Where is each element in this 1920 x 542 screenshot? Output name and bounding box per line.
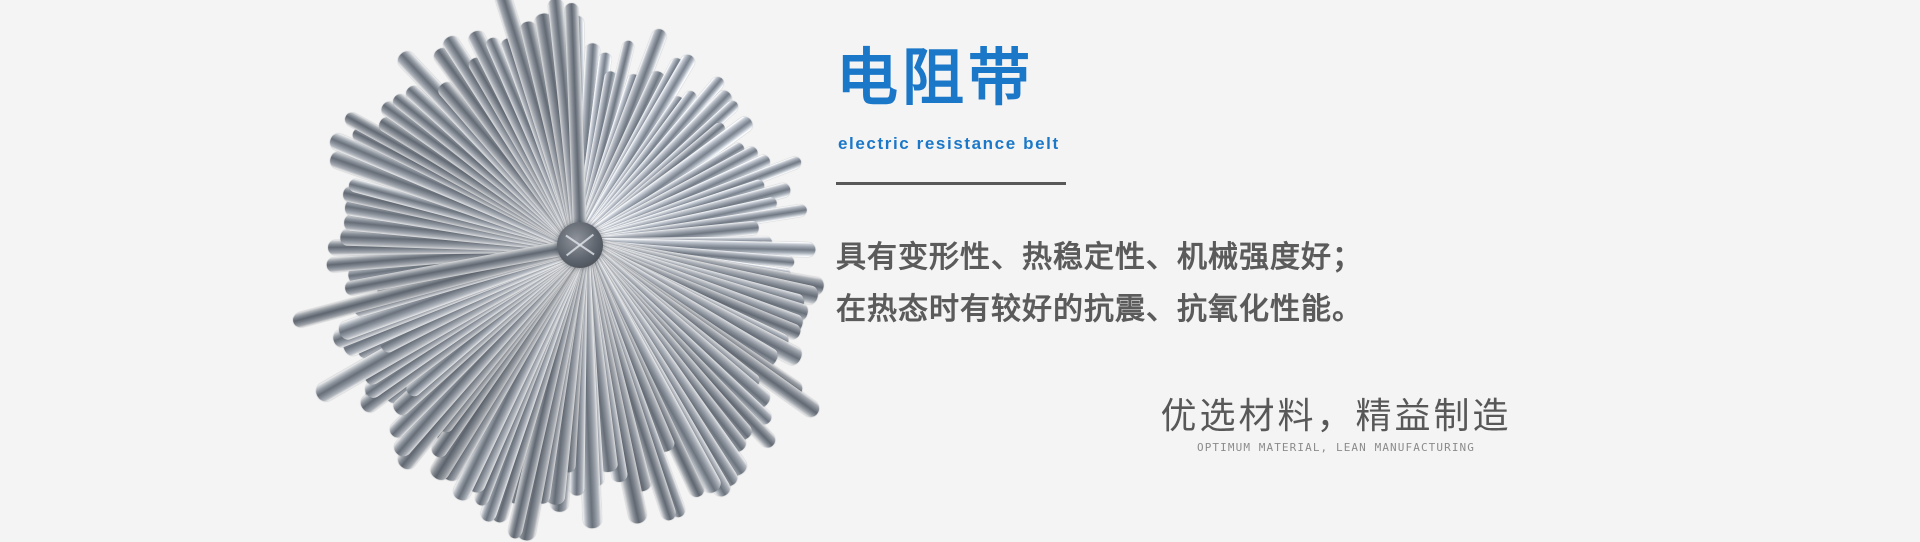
product-description: 具有变形性、热稳定性、机械强度好； 在热态时有较好的抗震、抗氧化性能。 (836, 232, 1476, 336)
description-line-1: 具有变形性、热稳定性、机械强度好； (836, 232, 1476, 284)
description-line-2: 在热态时有较好的抗震、抗氧化性能。 (836, 284, 1476, 336)
tagline-english: OPTIMUM MATERIAL, LEAN MANUFACTURING (1116, 441, 1556, 455)
title-divider (836, 182, 1066, 185)
tagline-block: 优选材料，精益制造 OPTIMUM MATERIAL, LEAN MANUFAC… (1116, 395, 1556, 455)
product-banner: 电阻带 electric resistance belt 具有变形性、热稳定性、… (0, 0, 1920, 530)
product-image-stage (300, 45, 860, 445)
product-image (300, 45, 860, 445)
banner-content: 电阻带 electric resistance belt 具有变形性、热稳定性、… (836, 0, 1836, 530)
page-title: 电阻带 (836, 48, 1034, 110)
tagline-chinese: 优选材料，精益制造 (1116, 395, 1556, 437)
page-subtitle: electric resistance belt (838, 134, 1060, 154)
